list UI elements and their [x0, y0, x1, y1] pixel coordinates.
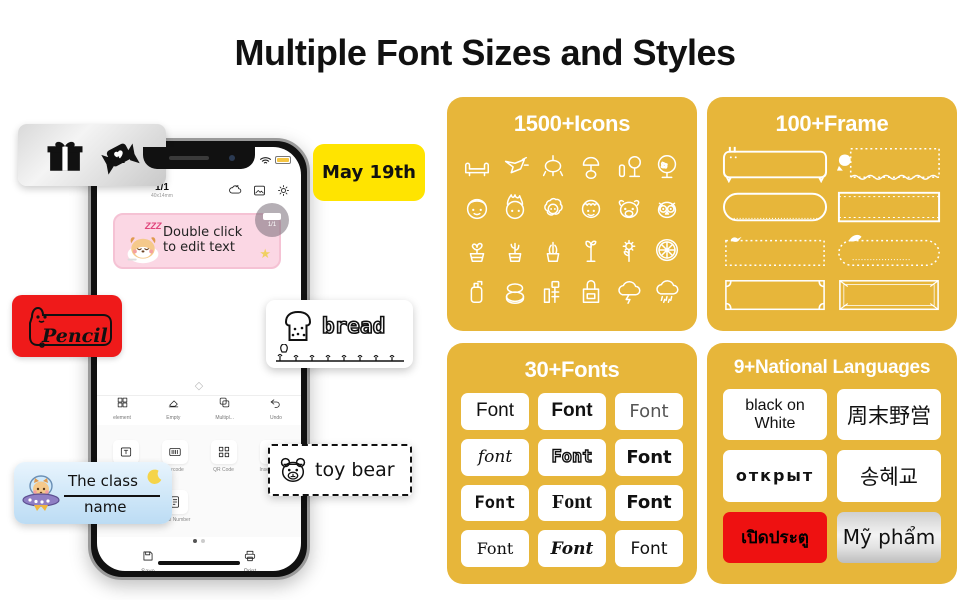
pagination-dots[interactable]	[193, 539, 205, 543]
icon-cell[interactable]	[611, 147, 647, 187]
phone-notch	[143, 147, 255, 169]
print-label: Print	[199, 569, 301, 571]
badge-count: 1/1	[268, 222, 276, 228]
label-page-badge: 1/1	[255, 203, 289, 237]
pill-stitch-frame-icon	[721, 189, 829, 227]
owl-face-icon	[652, 193, 682, 223]
bunny-frame-icon	[721, 145, 829, 183]
icon-cell[interactable]	[573, 189, 609, 229]
icon-cell[interactable]	[535, 230, 571, 270]
icon-cell[interactable]	[459, 272, 495, 312]
rectangle-stitch-frame-icon	[835, 189, 943, 227]
succulent-icon	[538, 235, 568, 265]
language-sample[interactable]: 송혜교	[837, 450, 941, 501]
dotted-pill-leaf-frame-icon	[835, 233, 943, 271]
cosmetics-icon	[538, 276, 568, 306]
icon-cell[interactable]	[535, 189, 571, 229]
font-sample[interactable]: font	[461, 439, 529, 476]
card-frames-title: 100+Frame	[707, 111, 957, 137]
rain-cloud-icon	[652, 276, 682, 306]
frame-sample-grid	[707, 137, 957, 327]
front-camera	[229, 155, 235, 161]
icon-cell[interactable]	[611, 189, 647, 229]
undo-icon	[269, 396, 282, 409]
sticker-date-label[interactable]: May 19th	[313, 144, 425, 201]
status-right	[259, 155, 291, 165]
tool-undo-label: Undo	[259, 415, 293, 421]
icon-cell[interactable]	[497, 189, 533, 229]
font-sample[interactable]: Font	[461, 530, 529, 567]
sticker-pencil-text: Pencil	[42, 325, 108, 347]
wifi-icon	[259, 155, 272, 165]
dot-2[interactable]	[201, 539, 205, 543]
icon-cell[interactable]	[611, 272, 647, 312]
sticker-pencil-label[interactable]: Pencil	[12, 295, 122, 357]
icon-cell[interactable]	[573, 147, 609, 187]
sticker-toybear-text: toy bear	[315, 459, 395, 481]
save-icon	[141, 549, 155, 563]
qrcode-icon	[211, 440, 237, 464]
language-sample[interactable]: открыт	[723, 450, 827, 501]
feature-card-grid: 1500+Icons	[447, 97, 957, 584]
dog-sticker-icon	[121, 227, 165, 265]
eraser-icon	[167, 396, 180, 409]
icon-cell[interactable]	[497, 147, 533, 187]
battery-icon	[275, 156, 291, 164]
bread-slice-icon	[278, 308, 318, 344]
icon-cell[interactable]	[459, 147, 495, 187]
curly-face-icon	[576, 193, 606, 223]
tool-empty-slot-1	[199, 481, 248, 531]
frame-cell[interactable]	[721, 233, 829, 271]
font-sample[interactable]: Font	[461, 485, 529, 522]
sticker-bread-label[interactable]: bread	[266, 300, 413, 368]
language-sample[interactable]: black on White	[723, 389, 827, 440]
font-sample[interactable]: Font	[615, 485, 683, 522]
plug-icon	[500, 152, 530, 182]
frame-cell[interactable]	[835, 277, 943, 315]
badge-bar	[263, 213, 281, 220]
font-sample[interactable]: Font	[538, 393, 606, 430]
icon-cell[interactable]	[497, 230, 533, 270]
language-sample[interactable]: Mỹ phẩm	[837, 512, 941, 563]
grass-border-icon	[274, 344, 406, 364]
top-icon-row	[228, 183, 291, 198]
speaker-grille	[169, 156, 209, 160]
cream-jar-icon	[576, 276, 606, 306]
icon-cell[interactable]	[459, 189, 495, 229]
card-languages-title: 9+National Languages	[707, 357, 957, 379]
card-languages: 9+National Languages black on White 周末野営…	[707, 343, 957, 584]
lotion-bottle-icon	[462, 276, 492, 306]
tool-element[interactable]: element	[105, 396, 139, 421]
table-lamp-icon	[576, 152, 606, 182]
compact-powder-icon	[500, 276, 530, 306]
icon-cell[interactable]	[573, 230, 609, 270]
sticker-date-text: May 19th	[322, 162, 416, 183]
icon-cell[interactable]	[497, 272, 533, 312]
icon-cell[interactable]	[535, 147, 571, 187]
tool-qrcode-label: QR Code	[213, 467, 234, 473]
tool-multiple[interactable]: Multipl...	[208, 396, 242, 421]
fan-icon	[652, 152, 682, 182]
language-sample-grid: black on White 周末野営 открыт 송혜교 เปิดประตู…	[707, 379, 957, 579]
text-icon	[113, 440, 139, 464]
corner-ornament-frame-2-icon	[835, 277, 943, 315]
frame-cell[interactable]	[835, 145, 943, 183]
font-sample[interactable]: Font	[538, 485, 606, 522]
font-sample[interactable]: Font	[615, 439, 683, 476]
font-sample[interactable]: Font	[538, 439, 606, 476]
gift-box-icon	[44, 134, 86, 176]
canvas-text-label[interactable]: ZZZ Double click to edit text ★ 1/1	[113, 213, 281, 269]
icon-cell[interactable]	[611, 230, 647, 270]
cat-ufo-icon	[18, 470, 64, 516]
dot-1[interactable]	[193, 539, 197, 543]
tool-multiple-label: Multipl...	[208, 415, 242, 421]
font-sample[interactable]: Font	[538, 530, 606, 567]
editor-bottom-bar: Save Print	[97, 549, 301, 571]
sunflower-icon	[614, 235, 644, 265]
floor-lamp-icon	[614, 152, 644, 182]
sticker-class-line1: The class	[68, 472, 138, 490]
copy-icon	[218, 396, 231, 409]
potted-plant-icon	[462, 235, 492, 265]
font-sample-grid: Font Font Font font Font Font Font Font …	[447, 383, 697, 583]
bear-face-icon	[278, 455, 308, 485]
lemon-slice-icon	[652, 235, 682, 265]
print-button[interactable]: Print	[199, 549, 301, 571]
tool-qrcode[interactable]: QR Code	[199, 431, 248, 481]
language-sample[interactable]: 周末野営	[837, 389, 941, 440]
flame-hair-face-icon	[500, 193, 530, 223]
icon-cell[interactable]	[649, 230, 685, 270]
sticker-toybear-label[interactable]: toy bear	[268, 444, 412, 496]
sticker-class-label[interactable]: The class name	[14, 462, 172, 524]
cloud-upload-icon[interactable]	[228, 183, 243, 198]
dotted-rect-bird-frame-icon	[721, 233, 829, 271]
sheep-face-icon	[538, 193, 568, 223]
tool-undo[interactable]: Undo	[259, 396, 293, 421]
language-sample[interactable]: เปิดประตู	[723, 512, 827, 563]
image-icon[interactable]	[252, 183, 267, 198]
cactus-icon	[500, 235, 530, 265]
font-sample[interactable]: Font	[461, 393, 529, 430]
boy-face-icon	[462, 193, 492, 223]
page-title: Multiple Font Sizes and Styles	[0, 32, 970, 74]
icon-cell[interactable]	[573, 272, 609, 312]
tool-empty-label: Empty	[156, 415, 190, 421]
canvas-label-line2: to edit text	[163, 241, 242, 256]
icon-cell[interactable]	[649, 147, 685, 187]
sprout-icon	[576, 235, 606, 265]
card-frames: 100+Frame	[707, 97, 957, 331]
grid-icon	[116, 396, 129, 409]
cow-face-icon	[614, 193, 644, 223]
corner-ornament-frame-1-icon	[721, 277, 829, 315]
frame-cell[interactable]	[721, 189, 829, 227]
page-size-label: 40x14mm	[151, 193, 173, 199]
frame-cell[interactable]	[835, 189, 943, 227]
frame-cell[interactable]	[721, 145, 829, 183]
icon-cell[interactable]	[649, 272, 685, 312]
canvas-label-text: Double click to edit text	[163, 226, 242, 256]
icon-cell[interactable]	[535, 272, 571, 312]
tool-element-label: element	[105, 415, 139, 421]
save-label: Save	[97, 569, 199, 571]
tool-empty[interactable]: Empty	[156, 396, 190, 421]
frame-cell[interactable]	[835, 233, 943, 271]
font-sample[interactable]: Font	[615, 530, 683, 567]
frame-cell[interactable]	[721, 277, 829, 315]
card-icons: 1500+Icons	[447, 97, 697, 331]
sleep-mark: ZZZ	[145, 221, 162, 231]
editor-tool-row: element Empty Multipl... Undo	[97, 395, 301, 421]
card-icons-title: 1500+Icons	[447, 111, 697, 137]
card-fonts: 30+Fonts Font Font Font font Font Font F…	[447, 343, 697, 584]
icon-sample-grid	[447, 137, 697, 325]
bird-dotted-frame-icon	[835, 145, 943, 183]
sticker-bread-text: bread	[322, 314, 385, 338]
save-button[interactable]: Save	[97, 549, 199, 571]
moon-icon	[146, 468, 164, 486]
sticker-class-divider	[64, 495, 160, 497]
chevron-down-icon[interactable]: ◇	[195, 379, 203, 392]
icon-cell[interactable]	[459, 230, 495, 270]
printer-icon	[243, 549, 257, 563]
canvas-label-line1: Double click	[163, 226, 242, 241]
sticker-class-line2: name	[84, 498, 127, 516]
star-icon: ★	[259, 246, 271, 262]
font-sample[interactable]: Font	[615, 393, 683, 430]
icon-cell[interactable]	[649, 189, 685, 229]
status-time: 9:42	[107, 155, 125, 165]
thunder-cloud-icon	[614, 276, 644, 306]
home-indicator	[158, 561, 240, 565]
barcode-icon	[162, 440, 188, 464]
pendant-lamp-icon	[538, 152, 568, 182]
gear-icon[interactable]	[276, 183, 291, 198]
sofa-icon	[462, 152, 492, 182]
card-fonts-title: 30+Fonts	[447, 357, 697, 383]
